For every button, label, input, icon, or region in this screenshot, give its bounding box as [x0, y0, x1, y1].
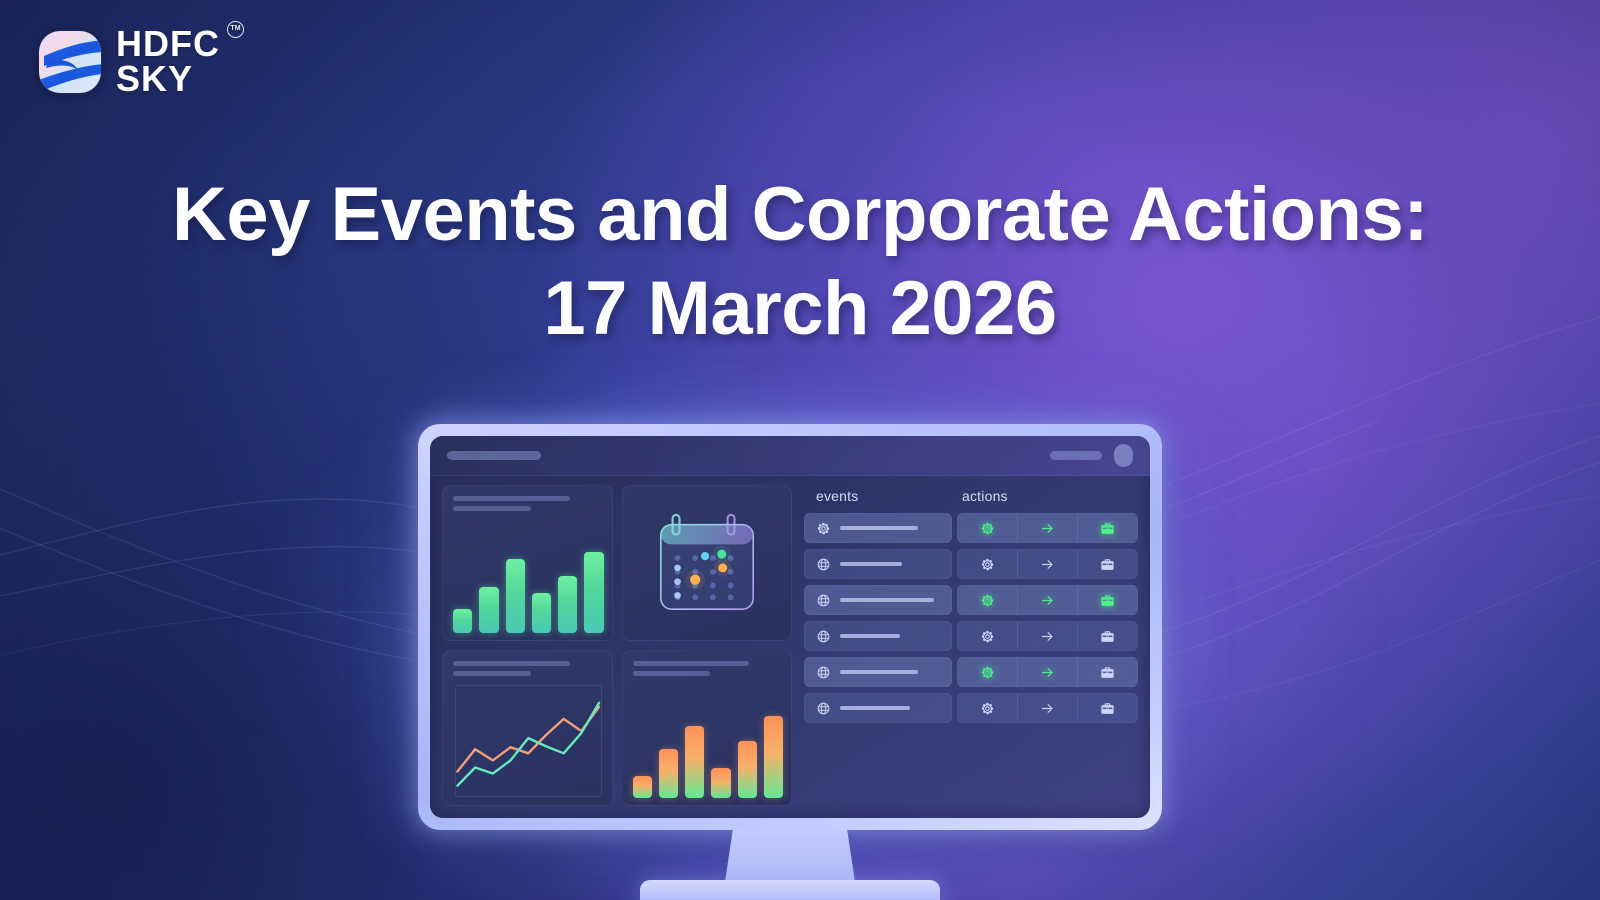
- monitor-stand-neck: [725, 830, 855, 882]
- action-gear-button[interactable]: [958, 622, 1017, 650]
- briefcase-icon: [1100, 557, 1115, 572]
- arrow-right-icon: [1039, 557, 1056, 572]
- event-label-placeholder: [840, 526, 918, 530]
- window-control-placeholder[interactable]: [1050, 451, 1102, 460]
- card-subtitle-bar: [633, 671, 711, 676]
- action-group: [957, 549, 1138, 579]
- bar-4: [532, 593, 551, 633]
- globe-icon: [816, 665, 831, 680]
- event-row[interactable]: [804, 693, 1138, 723]
- bar-3: [685, 726, 704, 798]
- briefcase-icon: [1100, 701, 1115, 716]
- action-arrow-right-button[interactable]: [1017, 658, 1077, 686]
- bar-1: [453, 609, 472, 633]
- actions-column-header: actions: [952, 488, 1008, 506]
- actions-label: actions: [962, 488, 1008, 504]
- card-subtitle-bar: [453, 671, 531, 676]
- gear-icon: [980, 701, 995, 716]
- event-cell[interactable]: [804, 693, 952, 723]
- page-title-line1: Key Events and Corporate Actions:: [172, 172, 1428, 257]
- action-group: [957, 621, 1138, 651]
- event-row[interactable]: [804, 585, 1138, 615]
- briefcase-icon: [1100, 593, 1115, 608]
- card-title-placeholder: [453, 496, 603, 511]
- event-cell[interactable]: [804, 549, 952, 579]
- card-title-placeholder: [453, 661, 603, 676]
- bar-6: [584, 552, 603, 633]
- bar-2: [659, 749, 678, 798]
- cards-row-top: [442, 485, 792, 641]
- briefcase-icon: [1100, 521, 1115, 536]
- action-gear-button[interactable]: [958, 550, 1017, 578]
- event-label-placeholder: [840, 598, 934, 602]
- event-row[interactable]: [804, 513, 1138, 543]
- action-group: [957, 657, 1138, 687]
- card-title-bar: [633, 661, 750, 666]
- bar-5: [558, 576, 577, 633]
- event-cell[interactable]: [804, 621, 952, 651]
- dashboard-body: events actions: [430, 476, 1150, 818]
- arrow-right-icon: [1039, 701, 1056, 716]
- card-subtitle-bar: [453, 506, 531, 511]
- brand-wordmark: HDFC SKY TM: [116, 27, 220, 96]
- action-group: [957, 513, 1138, 543]
- bar-chart: [453, 549, 604, 633]
- avatar[interactable]: [1114, 444, 1133, 467]
- globe-icon: [816, 593, 831, 608]
- bar-2: [479, 587, 498, 633]
- briefcase-icon: [1100, 629, 1115, 644]
- volume-chart-card[interactable]: [622, 650, 793, 806]
- arrow-right-icon: [1039, 521, 1056, 536]
- brand-name-line2: SKY: [116, 62, 220, 97]
- panel-header: events actions: [804, 488, 1138, 506]
- arrow-right-icon: [1039, 593, 1056, 608]
- bar-3: [506, 559, 525, 633]
- event-row[interactable]: [804, 621, 1138, 651]
- event-cell[interactable]: [804, 657, 952, 687]
- brand-logo[interactable]: HDFC SKY TM: [38, 27, 220, 96]
- event-row[interactable]: [804, 657, 1138, 687]
- line-series-green: [457, 703, 599, 786]
- calendar-icon: [623, 486, 792, 640]
- action-briefcase-button[interactable]: [1077, 550, 1137, 578]
- monitor-stand-base: [640, 880, 940, 900]
- gear-icon: [980, 629, 995, 644]
- gear-icon: [980, 521, 995, 536]
- action-arrow-right-button[interactable]: [1017, 694, 1077, 722]
- trademark-icon: TM: [227, 21, 244, 38]
- globe-icon: [816, 701, 831, 716]
- card-title-bar: [453, 496, 570, 501]
- gear-icon: [980, 557, 995, 572]
- events-actions-panel: events actions: [801, 485, 1138, 806]
- events-column-header: events: [804, 488, 952, 506]
- action-gear-button[interactable]: [958, 658, 1017, 686]
- briefcase-icon: [1100, 665, 1115, 680]
- event-cell[interactable]: [804, 513, 952, 543]
- action-briefcase-button[interactable]: [1077, 694, 1137, 722]
- arrow-right-icon: [1039, 629, 1056, 644]
- event-cell[interactable]: [804, 585, 952, 615]
- arrow-right-icon: [1039, 665, 1056, 680]
- window-title-placeholder: [447, 451, 541, 460]
- action-gear-button[interactable]: [958, 586, 1017, 614]
- volume-bar-chart: [633, 714, 784, 798]
- event-label-placeholder: [840, 706, 910, 710]
- bar-4: [711, 768, 730, 798]
- bar-5: [738, 741, 757, 798]
- bar-1: [633, 776, 652, 798]
- monitor-illustration: events actions: [418, 424, 1162, 900]
- action-briefcase-button[interactable]: [1077, 658, 1137, 686]
- action-group: [957, 585, 1138, 615]
- calendar-card[interactable]: [622, 485, 793, 641]
- page-title-line2: 17 March 2026: [100, 262, 1500, 356]
- gear-icon: [980, 593, 995, 608]
- monitor-screen: events actions: [430, 436, 1150, 818]
- globe-icon: [816, 629, 831, 644]
- event-label-placeholder: [840, 670, 918, 674]
- event-row[interactable]: [804, 549, 1138, 579]
- hdfc-sky-globe-logo-icon: [38, 30, 102, 94]
- action-group: [957, 693, 1138, 723]
- event-label-placeholder: [840, 634, 900, 638]
- bar-chart-card[interactable]: [442, 485, 613, 641]
- action-briefcase-button[interactable]: [1077, 514, 1137, 542]
- card-title-bar: [453, 661, 570, 666]
- dashboard-cards-grid: [442, 485, 792, 806]
- events-label: events: [816, 488, 858, 504]
- card-title-placeholder: [633, 661, 783, 676]
- action-arrow-right-button[interactable]: [1017, 514, 1077, 542]
- gear-icon: [980, 665, 995, 680]
- globe-icon: [816, 557, 831, 572]
- event-label-placeholder: [840, 562, 902, 566]
- gear-icon: [816, 521, 831, 536]
- page-title: Key Events and Corporate Actions: 17 Mar…: [0, 168, 1600, 356]
- monitor-bezel: events actions: [418, 424, 1162, 830]
- action-gear-button[interactable]: [958, 514, 1017, 542]
- action-briefcase-button[interactable]: [1077, 622, 1137, 650]
- action-arrow-right-button[interactable]: [1017, 622, 1077, 650]
- bar-6: [764, 716, 783, 798]
- line-chart-card[interactable]: [442, 650, 613, 806]
- cards-row-bottom: [442, 650, 792, 806]
- action-gear-button[interactable]: [958, 694, 1017, 722]
- events-actions-rows: [804, 513, 1138, 806]
- action-briefcase-button[interactable]: [1077, 586, 1137, 614]
- action-arrow-right-button[interactable]: [1017, 586, 1077, 614]
- topbar-controls: [1050, 444, 1133, 467]
- action-arrow-right-button[interactable]: [1017, 550, 1077, 578]
- dashboard-topbar: [430, 436, 1150, 476]
- line-chart: [455, 685, 602, 797]
